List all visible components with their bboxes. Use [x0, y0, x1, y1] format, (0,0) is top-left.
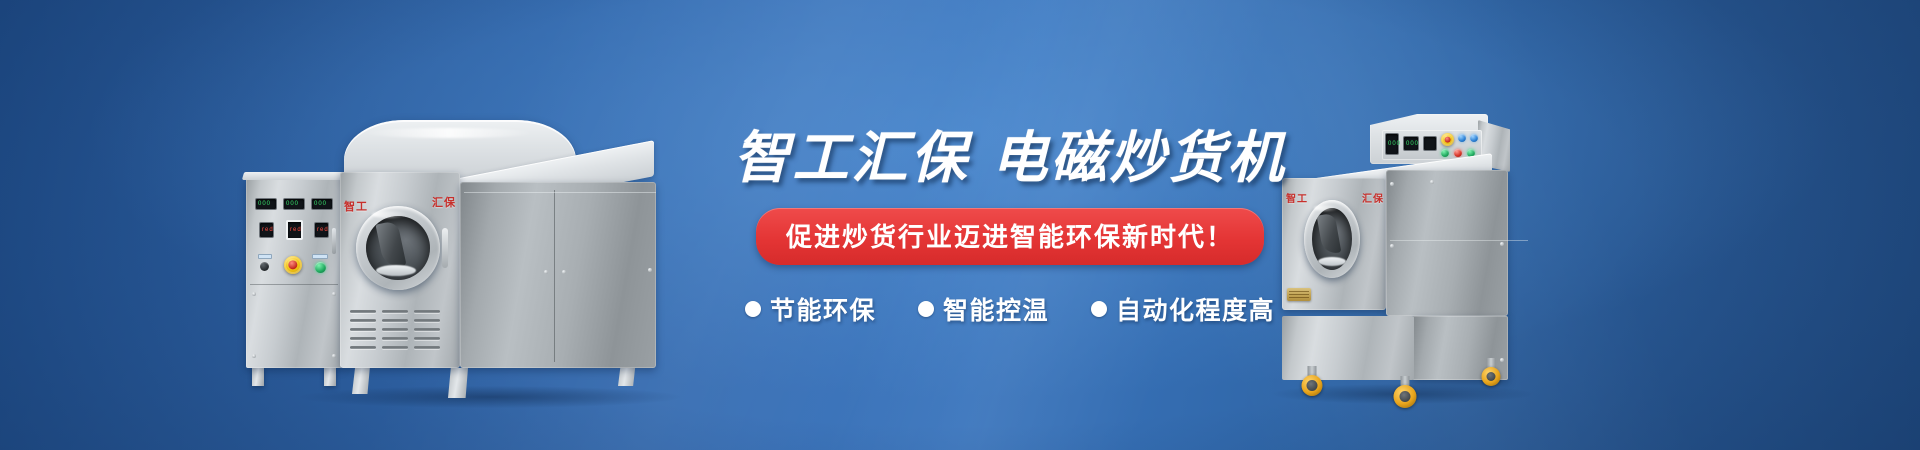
drum-bottom-highlight: [376, 265, 416, 276]
screw-rivet: [252, 292, 256, 296]
screw-rivet: [562, 270, 566, 274]
caster-wheel-rear-right: [1480, 358, 1502, 386]
brand-text-right: 汇保: [1362, 190, 1384, 205]
caster-wheel-front-right: [1392, 376, 1418, 408]
display-value: red: [317, 227, 329, 233]
timer-display: 000: [283, 198, 305, 210]
display-value: 000: [286, 201, 299, 207]
screw-rivet: [544, 270, 548, 274]
roaster-right-body: [460, 182, 656, 368]
filled-circle-bullet-icon: [1091, 301, 1107, 317]
screw-rivet: [1430, 180, 1434, 184]
display-value: 000: [1388, 141, 1401, 147]
screw-rivet: [1500, 242, 1504, 246]
display-value: red: [290, 227, 302, 233]
display-value: 000: [258, 201, 271, 207]
display-value: red: [262, 227, 274, 233]
caster-wheel-front-left: [1300, 366, 1324, 396]
temperature-display: 000: [1403, 136, 1419, 151]
indicator-display-1: red: [259, 222, 274, 238]
filled-circle-bullet-icon: [745, 301, 761, 317]
feature-item-smart-temperature: 智能控温: [918, 291, 1049, 327]
temperature-display: 000: [255, 198, 277, 210]
feature-item-automation: 自动化程度高: [1091, 291, 1275, 327]
green-start-button[interactable]: [315, 262, 326, 273]
indicator-display-2[interactable]: red: [286, 220, 303, 240]
screw-rivet: [1390, 182, 1394, 186]
black-switch-button[interactable]: [260, 262, 269, 271]
drum-door-hinge[interactable]: [442, 228, 448, 268]
vent-louver-group: [348, 308, 444, 364]
emergency-stop-button[interactable]: [1441, 133, 1454, 146]
rim-glint: [372, 211, 406, 218]
feature-item-energy-saving: 节能环保: [745, 291, 876, 327]
indicator-display-3: red: [314, 222, 329, 238]
machine-left-roaster: 智工 汇保: [330, 120, 660, 370]
body-door-seam: [554, 190, 555, 362]
red-stop-button[interactable]: [1454, 149, 1462, 157]
brand-text-right: 汇保: [432, 194, 456, 210]
status-display: [1423, 136, 1437, 151]
brand-text-left: 智工: [344, 198, 368, 214]
promotional-banner: 000 000 000 red red red: [0, 0, 1920, 450]
screw-rivet: [1390, 244, 1394, 248]
feature-label: 智能控温: [943, 291, 1049, 327]
roaster-drum-interior: [366, 216, 430, 280]
banner-copy-block: 智工汇保电磁炒货机 促进炒货行业迈进智能环保新时代！ 节能环保 智能控温 自动化…: [700, 128, 1320, 327]
body-seam: [1390, 240, 1528, 241]
green-start-button[interactable]: [1441, 149, 1449, 157]
caster-wheel: [1302, 375, 1323, 396]
blue-function-button[interactable]: [1470, 134, 1478, 142]
drum-bottom-highlight: [1318, 257, 1346, 266]
feature-label: 自动化程度高: [1116, 291, 1275, 327]
caster-wheel: [1394, 385, 1417, 408]
roaster-leg: [448, 368, 468, 398]
control-label-tag: [258, 254, 272, 259]
blue-mode-button[interactable]: [1458, 134, 1466, 142]
display-value: 000: [314, 201, 327, 207]
banner-tagline-ribbon: 促进炒货行业迈进智能环保新时代！: [756, 208, 1264, 265]
filled-circle-bullet-icon: [918, 301, 934, 317]
body-top-seam: [464, 192, 656, 193]
machine-left-control-cabinet: 000 000 000 red red red: [246, 178, 342, 368]
caster-wheel: [1482, 367, 1501, 386]
cabinet-leg: [252, 366, 264, 386]
control-label-tag: [312, 254, 328, 259]
feature-label: 节能环保: [770, 291, 876, 327]
hood-highlight: [364, 128, 534, 138]
roaster-right-body: [1386, 170, 1508, 316]
screw-rivet: [252, 354, 256, 358]
display-value: 000: [1406, 141, 1419, 147]
roaster-leg: [352, 366, 370, 394]
screw-rivet: [648, 268, 652, 272]
headline-part-2: 电磁炒货机: [992, 126, 1287, 189]
headline-part-1: 智工汇保: [734, 126, 970, 189]
stirring-blade: [1317, 213, 1342, 256]
feature-list: 节能环保 智能控温 自动化程度高: [700, 291, 1320, 327]
banner-headline: 智工汇保电磁炒货机: [700, 128, 1320, 188]
emergency-stop-button[interactable]: [284, 256, 302, 274]
roaster-drum-rim: [356, 206, 440, 290]
panel-seam: [250, 284, 338, 285]
stirring-blade: [375, 220, 406, 270]
main-display: 000: [1385, 133, 1399, 155]
